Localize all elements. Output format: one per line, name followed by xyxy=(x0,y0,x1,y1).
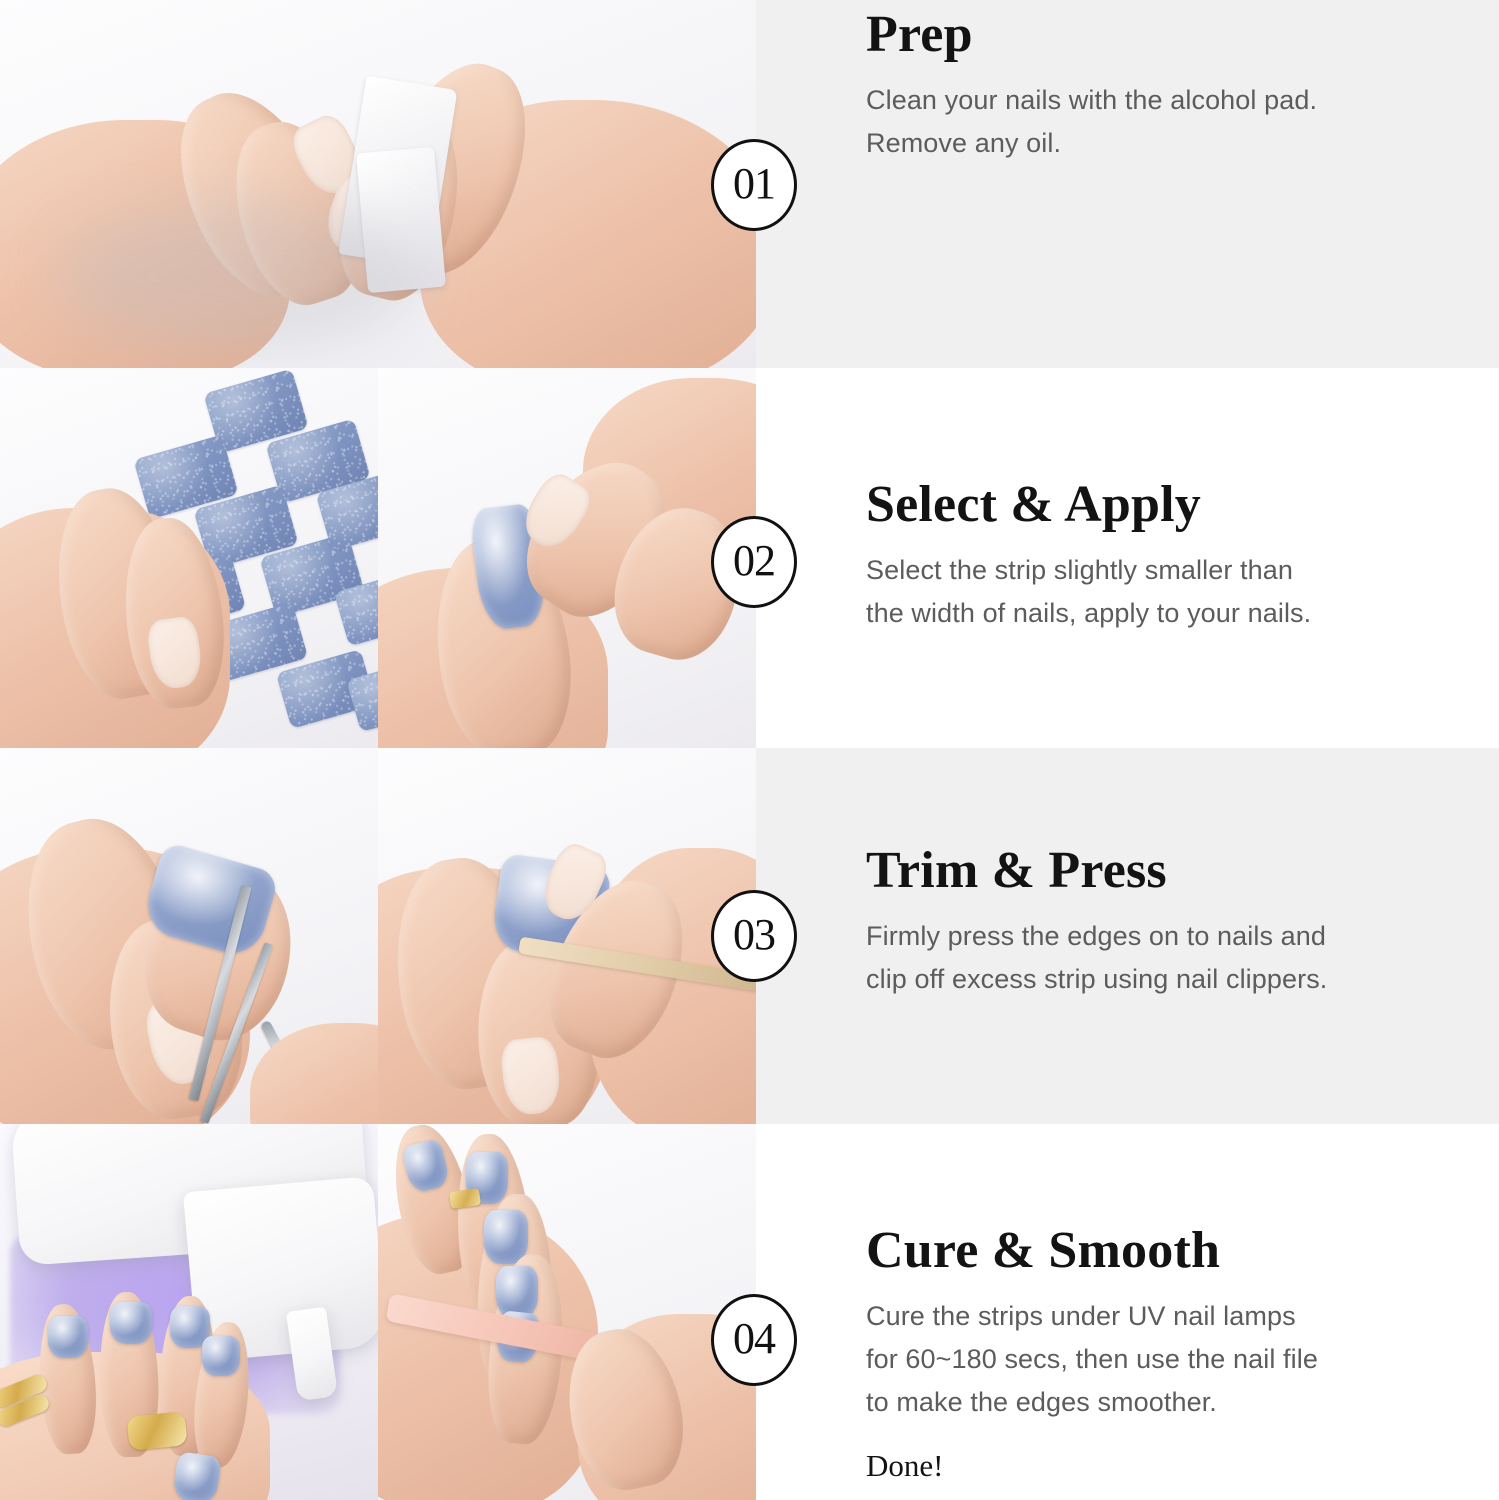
step-2-photo-column xyxy=(0,368,756,748)
step-1-text-block: Prep Clean your nails with the alcohol p… xyxy=(866,8,1317,165)
step-row-4: 04 Cure & Smooth Cure the strips under U… xyxy=(0,1124,1499,1500)
step-number-4: 04 xyxy=(733,1317,775,1361)
step-4-text-column: 04 Cure & Smooth Cure the strips under U… xyxy=(756,1124,1499,1500)
step-title-3: Trim & Press xyxy=(866,844,1327,899)
step-body-line: Cure the strips under UV nail lamps xyxy=(866,1301,1296,1331)
step-body-4: Cure the strips under UV nail lamps for … xyxy=(866,1295,1318,1424)
step-badge-3: 03 xyxy=(711,890,797,982)
step-title-2: Select & Apply xyxy=(866,478,1311,533)
step-4-text-block: Cure & Smooth Cure the strips under UV n… xyxy=(866,1224,1318,1484)
step-body-line: to make the edges smoother. xyxy=(866,1387,1217,1417)
step-1-text-column: 01 Prep Clean your nails with the alcoho… xyxy=(756,0,1499,368)
step-row-1: 01 Prep Clean your nails with the alcoho… xyxy=(0,0,1499,368)
step-number-2: 02 xyxy=(733,539,775,583)
photo-smooth-with-nail-file xyxy=(378,1124,756,1500)
photo-select-strip-sheet xyxy=(0,368,378,748)
step-badge-4: 04 xyxy=(711,1294,797,1386)
photo-apply-strip-to-nail xyxy=(378,368,756,748)
step-title-1: Prep xyxy=(866,8,1317,63)
step-body-line: Clean your nails with the alcohol pad. xyxy=(866,85,1317,115)
step-body-line: Remove any oil. xyxy=(866,128,1061,158)
step-done-label: Done! xyxy=(866,1448,1318,1484)
step-number-1: 01 xyxy=(733,162,775,206)
step-2-text-block: Select & Apply Select the strip slightly… xyxy=(866,478,1311,635)
photo-press-with-stick xyxy=(378,748,756,1124)
step-number-3: 03 xyxy=(733,913,775,957)
step-title-4: Cure & Smooth xyxy=(866,1224,1318,1279)
step-body-line: Select the strip slightly smaller than xyxy=(866,555,1293,585)
step-1-photo-column xyxy=(0,0,756,368)
step-body-line: Firmly press the edges on to nails and xyxy=(866,921,1326,951)
step-body-line: the width of nails, apply to your nails. xyxy=(866,598,1311,628)
step-4-photo-column xyxy=(0,1124,756,1500)
photo-prep-alcohol-pad xyxy=(0,0,756,368)
step-3-text-block: Trim & Press Firmly press the edges on t… xyxy=(866,844,1327,1001)
step-3-photo-column xyxy=(0,748,756,1124)
step-2-text-column: 02 Select & Apply Select the strip sligh… xyxy=(756,368,1499,748)
photo-cure-under-uv-lamp xyxy=(0,1124,378,1500)
step-3-text-column: 03 Trim & Press Firmly press the edges o… xyxy=(756,748,1499,1124)
step-body-line: clip off excess strip using nail clipper… xyxy=(866,964,1327,994)
step-badge-2: 02 xyxy=(711,516,797,608)
step-body-1: Clean your nails with the alcohol pad. R… xyxy=(866,79,1317,165)
step-row-3: 03 Trim & Press Firmly press the edges o… xyxy=(0,748,1499,1124)
photo-trim-with-clippers xyxy=(0,748,378,1124)
step-body-line: for 60~180 secs, then use the nail file xyxy=(866,1344,1318,1374)
step-body-3: Firmly press the edges on to nails and c… xyxy=(866,915,1327,1001)
instruction-infographic: 01 Prep Clean your nails with the alcoho… xyxy=(0,0,1499,1500)
step-row-2: 02 Select & Apply Select the strip sligh… xyxy=(0,368,1499,748)
step-badge-1: 01 xyxy=(711,139,797,231)
step-body-2: Select the strip slightly smaller than t… xyxy=(866,549,1311,635)
